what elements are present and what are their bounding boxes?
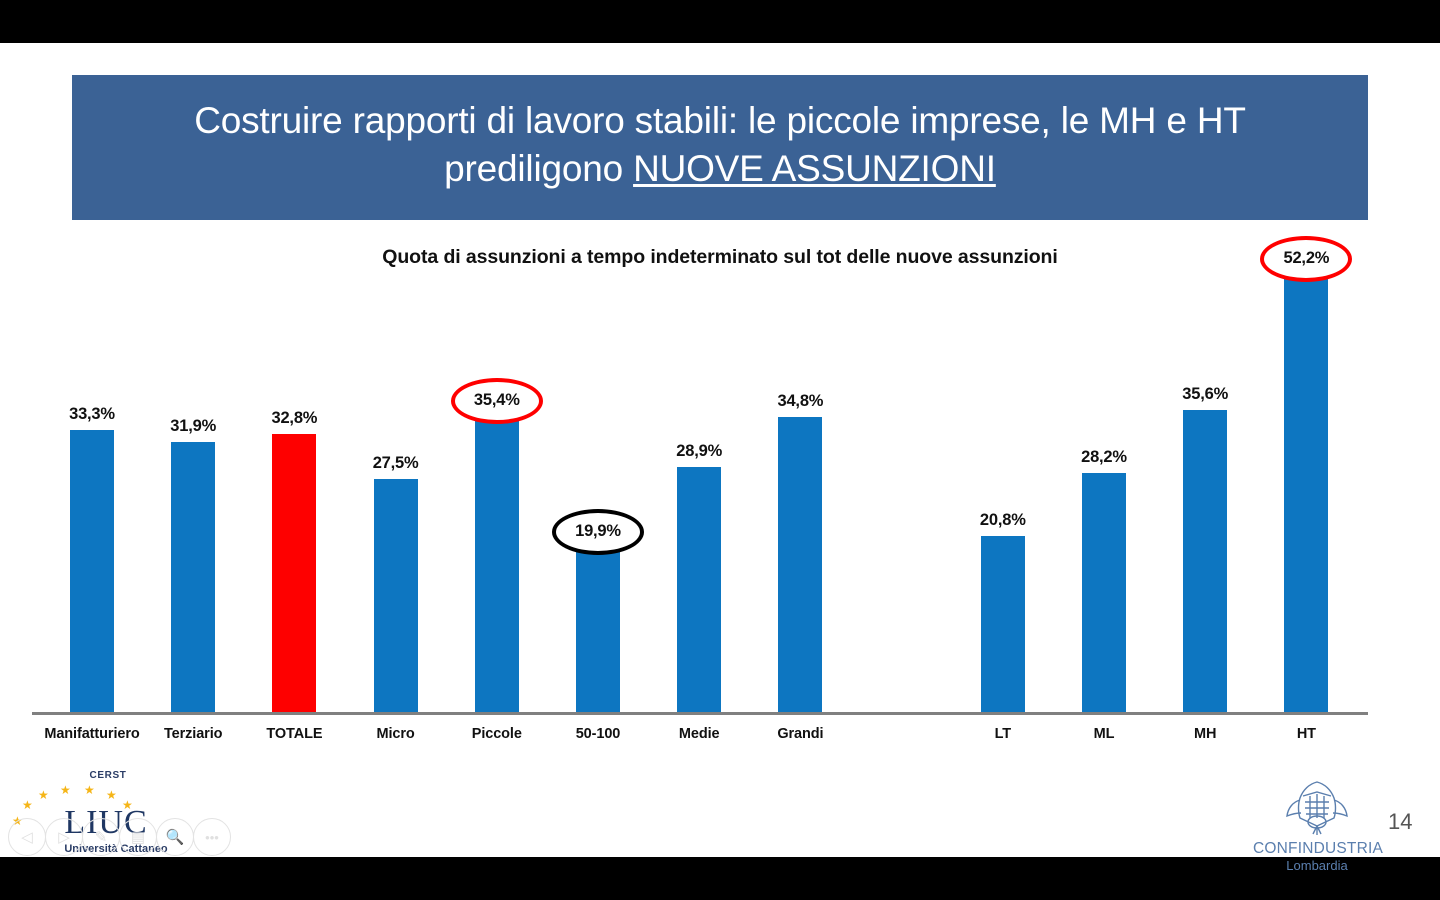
bar-ht[interactable] [1284, 270, 1328, 712]
bar-mh[interactable] [1183, 410, 1227, 712]
bar-value-label: 31,9% [138, 417, 248, 436]
pen-tool-button[interactable]: ✎ [82, 818, 120, 856]
bar-medie[interactable] [677, 467, 721, 712]
bar-terziario[interactable] [171, 442, 215, 712]
more-options-icon: ••• [205, 830, 219, 845]
bar-value-label: 20,8% [948, 511, 1058, 530]
zoom-slide-icon: 🔍 [166, 828, 185, 846]
bar-micro[interactable] [374, 479, 418, 712]
x-axis-line [32, 712, 1368, 715]
star-icon: ★ [84, 783, 95, 797]
star-icon: ★ [60, 783, 71, 797]
bar-chart: Manifatturiero33,3%Terziario31,9%TOTALE3… [0, 43, 1440, 773]
bar-totale[interactable] [272, 434, 316, 712]
slide-grid-button[interactable]: ▤ [119, 818, 157, 856]
bar-value-label: 32,8% [239, 409, 349, 428]
letterbox-bottom [0, 857, 1440, 900]
bar-value-label: 34,8% [745, 392, 855, 411]
eagle-emblem-icon [1253, 778, 1381, 838]
bar-value-label: 52,2% [1251, 249, 1361, 268]
bar-manifatturiero[interactable] [70, 430, 114, 712]
bar-ml[interactable] [1082, 473, 1126, 712]
bar-value-label: 33,3% [37, 405, 147, 424]
x-tick-label: HT [1236, 726, 1376, 742]
star-icon: ★ [38, 788, 49, 802]
presentation-slide: Costruire rapporti di lavoro stabili: le… [0, 43, 1440, 857]
next-slide-button[interactable]: ▷ [45, 818, 83, 856]
confindustria-region-label: Lombardia [1253, 858, 1381, 873]
bar-lt[interactable] [981, 536, 1025, 712]
more-options-button[interactable]: ••• [193, 818, 231, 856]
zoom-slide-button[interactable]: 🔍 [156, 818, 194, 856]
confindustria-name-label: CONFINDUSTRIA [1253, 840, 1381, 858]
previous-slide-icon: ◁ [21, 828, 33, 846]
slideshow-controls[interactable]: ◁▷✎▤🔍••• [8, 818, 230, 860]
bar-piccole[interactable] [475, 412, 519, 712]
liuc-cerst-label: CERST [48, 770, 168, 781]
star-icon: ★ [106, 788, 117, 802]
bar-value-label: 35,4% [442, 391, 552, 410]
bar-value-label: 19,9% [543, 522, 653, 541]
previous-slide-button[interactable]: ◁ [8, 818, 46, 856]
pen-tool-icon: ✎ [95, 828, 108, 846]
bar-value-label: 27,5% [341, 454, 451, 473]
bar-value-label: 28,2% [1049, 448, 1159, 467]
confindustria-logo: CONFINDUSTRIA Lombardia [1253, 778, 1381, 873]
letterbox-top [0, 0, 1440, 43]
bar-value-label: 28,9% [644, 442, 754, 461]
slide-number: 14 [1388, 809, 1412, 835]
bar-grandi[interactable] [778, 417, 822, 712]
slide-grid-icon: ▤ [131, 828, 145, 846]
bar-50-100[interactable] [576, 543, 620, 712]
bar-value-label: 35,6% [1150, 385, 1260, 404]
next-slide-icon: ▷ [58, 828, 70, 846]
x-tick-label: Grandi [730, 726, 870, 742]
